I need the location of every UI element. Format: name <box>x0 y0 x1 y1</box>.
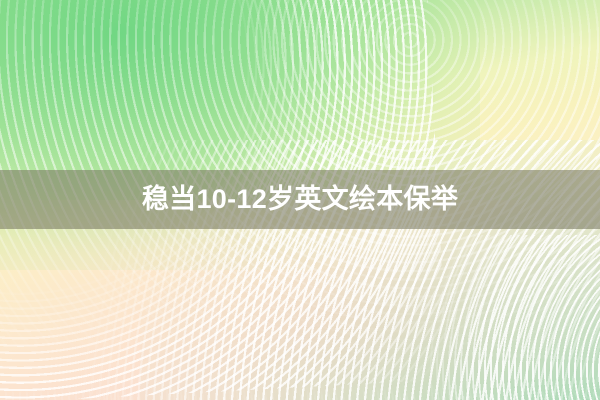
banner-title: 稳当10-12岁英文绘本保举 <box>142 186 458 213</box>
center-pink-wash <box>0 200 600 400</box>
banner-image: 稳当10-12岁英文绘本保举 <box>0 0 600 400</box>
title-band: 稳当10-12岁英文绘本保举 <box>0 170 600 229</box>
